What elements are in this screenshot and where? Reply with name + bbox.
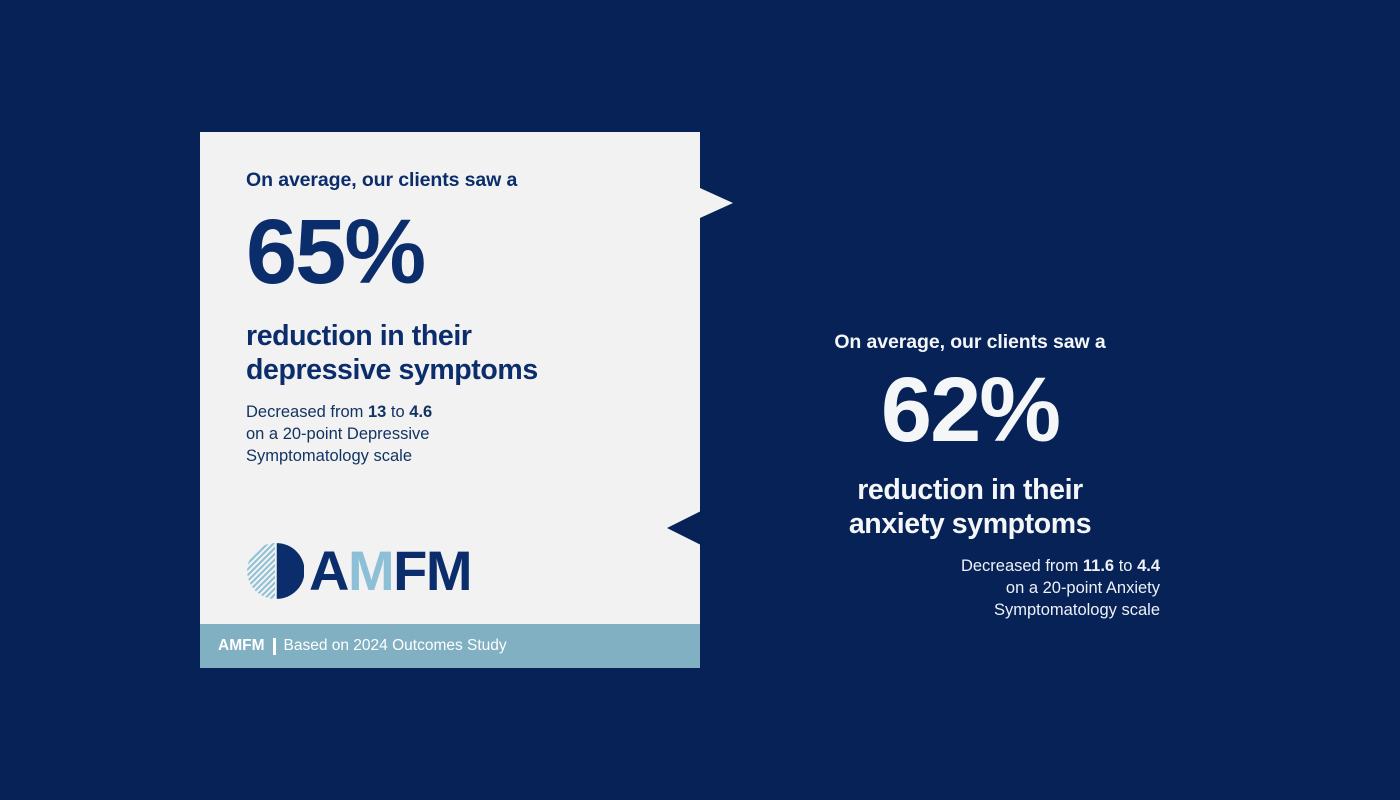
card-footer-bar: AMFM Based on 2024 Outcomes Study	[200, 624, 700, 668]
footer-source-note: Based on 2024 Outcomes Study	[284, 637, 507, 655]
depression-outcome-card: On average, our clients saw a 65% reduct…	[200, 132, 700, 668]
amfm-logo: AMFM	[246, 542, 471, 600]
left-card-detail: Decreased from 13 to 4.6 on a 20-point D…	[246, 402, 654, 468]
left-card-detail-middle: to	[386, 403, 409, 421]
left-card-lede-line2: depressive symptoms	[246, 354, 538, 386]
speech-bubble-tail-right-icon	[700, 188, 733, 218]
right-panel-lede: reduction in their anxiety symptoms	[780, 474, 1160, 541]
left-card-detail-from: 13	[368, 403, 386, 421]
right-panel-detail-line2: on a 20-point Anxiety	[1006, 579, 1160, 597]
anxiety-outcome-panel: On average, our clients saw a 62% reduct…	[780, 330, 1160, 621]
left-card-detail-to: 4.6	[409, 403, 432, 421]
amfm-circle-mark-icon	[246, 542, 304, 600]
left-card-detail-line3: Symptomatology scale	[246, 447, 412, 465]
right-panel-detail-prefix: Decreased from	[961, 557, 1083, 575]
wordmark-a: A	[309, 543, 348, 599]
footer-brand-label: AMFM	[218, 637, 265, 655]
right-panel-detail-line3: Symptomatology scale	[994, 601, 1160, 619]
left-card-detail-prefix: Decreased from	[246, 403, 368, 421]
right-panel-big-percentage: 62%	[780, 364, 1160, 456]
left-card-kicker: On average, our clients saw a	[246, 168, 654, 192]
right-panel-detail-middle: to	[1114, 557, 1137, 575]
right-panel-lede-line2: anxiety symptoms	[849, 508, 1091, 540]
left-card-lede-line1: reduction in their	[246, 320, 472, 352]
left-card-detail-line2: on a 20-point Depressive	[246, 425, 429, 443]
wordmark-m: M	[348, 543, 393, 599]
right-panel-detail-from: 11.6	[1083, 557, 1114, 575]
amfm-wordmark: AMFM	[309, 543, 471, 599]
speech-bubble-notch-left-icon	[667, 511, 701, 545]
left-card-big-percentage: 65%	[246, 206, 654, 298]
right-panel-detail-to: 4.4	[1137, 557, 1160, 575]
right-panel-lede-line1: reduction in their	[857, 474, 1083, 506]
left-card-lede: reduction in their depressive symptoms	[246, 320, 654, 387]
right-panel-detail: Decreased from 11.6 to 4.4 on a 20-point…	[780, 556, 1160, 622]
right-panel-kicker: On average, our clients saw a	[780, 330, 1160, 354]
wordmark-fm: FM	[393, 543, 471, 599]
footer-divider-icon	[273, 638, 276, 655]
